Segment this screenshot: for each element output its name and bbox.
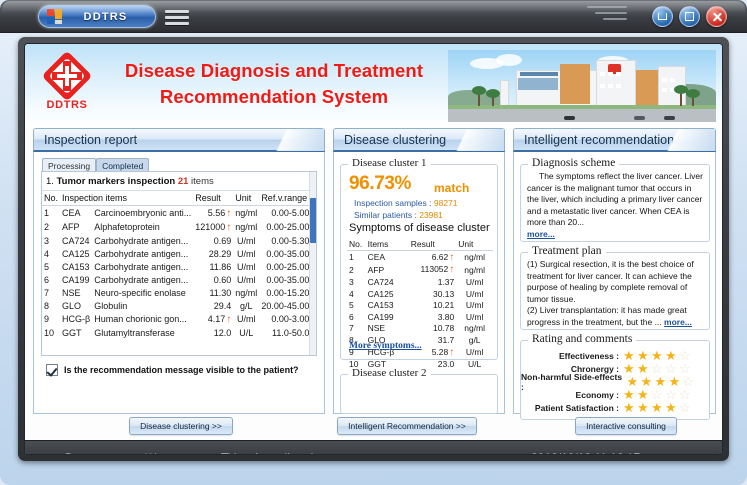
panel-recommendation-body: Diagnosis scheme The symptoms reflect th… bbox=[513, 152, 716, 414]
treatment-plan-group: Treatment plan (1) Surgical resection, i… bbox=[520, 252, 710, 330]
rating-label: Effectiveness : bbox=[559, 351, 619, 361]
table-row[interactable]: 5CA153Carbohydrate antigen...11.86U/ml0.… bbox=[42, 260, 311, 273]
cell-item: AFP bbox=[366, 264, 409, 277]
table-row[interactable]: 7NSE10.78ng/ml bbox=[347, 323, 493, 335]
status-bar: Doctor name : *** Title : Attending doct… bbox=[25, 440, 723, 455]
cell-result: 5.56↑ bbox=[193, 206, 233, 221]
col-unit: Unit bbox=[456, 238, 493, 251]
panel-recommendation-title: Intelligent recommendation bbox=[514, 133, 674, 147]
status-datetime: 2016/10/12 11:16:17 bbox=[531, 451, 640, 455]
treatment-legend: Treatment plan bbox=[528, 245, 606, 257]
title-bar: DDTRS bbox=[0, 0, 747, 33]
cell-abbr: HCG-β bbox=[60, 312, 92, 326]
cell-item: CA153 bbox=[366, 299, 409, 311]
cell-unit: U/ml bbox=[233, 273, 259, 286]
action-button-row: Disease clustering >> Intelligent Recomm… bbox=[25, 414, 723, 440]
cell-name: Neuro-specific enolase bbox=[92, 286, 193, 299]
table-row[interactable]: 2AFPAlphafetoprotein121000↑ng/ml0.00-25.… bbox=[42, 220, 311, 234]
cell-unit: ng/ml bbox=[456, 323, 493, 335]
cell-ref: 0.00-5.30 bbox=[259, 234, 311, 247]
rating-label: Economy : bbox=[576, 390, 619, 400]
col-items: Inspection items bbox=[60, 191, 193, 206]
cell-result: 121000↑ bbox=[193, 220, 233, 234]
cell-no: 1 bbox=[42, 206, 60, 221]
table-row[interactable]: 1CEACarcinoembryonic anti...5.56↑ng/ml0.… bbox=[42, 206, 311, 221]
high-value-arrow-icon: ↑ bbox=[449, 264, 454, 275]
panel-inspection-report: Inspection report Processing Completed 1… bbox=[33, 128, 325, 414]
panel-intelligent-recommendation: Intelligent recommendation Diagnosis sch… bbox=[513, 128, 716, 414]
inspection-scrollbar[interactable] bbox=[309, 172, 316, 355]
more-symptoms-link[interactable]: More symptoms... bbox=[349, 341, 422, 351]
application-window: DDTRS bbox=[0, 0, 747, 485]
cell-name: Carbohydrate antigen... bbox=[92, 234, 193, 247]
close-button[interactable] bbox=[706, 6, 727, 27]
inspection-samples-stat: Inspection samples : 98271 bbox=[354, 198, 458, 208]
cluster-1-legend: Disease cluster 1 bbox=[348, 157, 431, 169]
cell-result: 11.86 bbox=[193, 260, 233, 273]
high-value-arrow-icon: ↑ bbox=[449, 347, 454, 358]
intelligent-recommendation-button[interactable]: Intelligent Recommendation >> bbox=[337, 417, 477, 435]
rating-legend: Rating and comments bbox=[528, 333, 636, 345]
hospital-photo bbox=[448, 50, 716, 122]
cell-item: CA724 bbox=[366, 276, 409, 288]
cluster-2-legend: Disease cluster 2 bbox=[348, 367, 431, 379]
diagnosis-text: The symptoms reflect the liver cancer. L… bbox=[527, 171, 703, 229]
cell-result: 0.60 bbox=[193, 273, 233, 286]
hospital-logo: DDTRS bbox=[39, 54, 95, 111]
logo-abbr-label: DDTRS bbox=[39, 99, 95, 111]
star-filled-icon[interactable]: ★ bbox=[651, 401, 665, 414]
page-title-line1: Disease Diagnosis and Treatment bbox=[109, 58, 439, 84]
table-row[interactable]: 6CA1993.80U/ml bbox=[347, 311, 493, 323]
panel-disease-clustering: Disease clustering Disease cluster 1 96.… bbox=[333, 128, 505, 414]
table-row[interactable]: 6CA199Carbohydrate antigen...0.60U/ml0.0… bbox=[42, 273, 311, 286]
cell-unit: U/ml bbox=[456, 346, 493, 359]
treatment-line-2-text: (2) Liver transplantation: it has made g… bbox=[527, 305, 687, 327]
table-row[interactable]: 8GLOGlobulin29.4g/L20.00-45.00 bbox=[42, 299, 311, 312]
content-frame: DDTRS Disease Diagnosis and Treatment Re… bbox=[18, 37, 729, 461]
rating-row: Patient Satisfaction :★★★★☆ bbox=[521, 401, 709, 414]
cell-no: 1 bbox=[347, 251, 366, 264]
rating-comments-group: Rating and comments Effectiveness :★★★★☆… bbox=[520, 340, 710, 420]
cell-no: 4 bbox=[42, 247, 60, 260]
diagnosis-more-link[interactable]: more... bbox=[527, 229, 555, 239]
cell-abbr: CA153 bbox=[60, 260, 92, 273]
patient-visibility-label: Is the recommendation message visible to… bbox=[64, 365, 299, 375]
close-icon bbox=[712, 12, 722, 22]
maximize-button[interactable] bbox=[679, 6, 700, 27]
cell-result: 29.4 bbox=[193, 299, 233, 312]
cell-result: 10.78 bbox=[409, 323, 457, 335]
panel-recommendation-header: Intelligent recommendation bbox=[513, 128, 716, 152]
cell-name: Globulin bbox=[92, 299, 193, 312]
panel-inspection-body: Processing Completed 1. Tumor markers in… bbox=[33, 152, 325, 414]
treatment-text-block: (1) Surgical resection, it is the best c… bbox=[521, 253, 709, 328]
star-empty-icon[interactable]: ☆ bbox=[679, 401, 693, 414]
table-row[interactable]: 1CEA6.62↑ng/ml bbox=[347, 251, 493, 264]
minimize-button[interactable] bbox=[652, 6, 673, 27]
cell-item: CA125 bbox=[366, 288, 409, 300]
table-row[interactable]: 3CA724Carbohydrate antigen...0.69U/ml0.0… bbox=[42, 234, 311, 247]
cell-result: 28.29 bbox=[193, 247, 233, 260]
cell-name: Alphafetoprotein bbox=[92, 220, 193, 234]
table-row[interactable]: 2AFP113052↑ng/ml bbox=[347, 264, 493, 277]
cell-ref: 11.0-50.0 bbox=[259, 326, 311, 339]
cell-ref: 0.00-3.00 bbox=[259, 312, 311, 326]
cell-unit: U/ml bbox=[233, 234, 259, 247]
table-row[interactable]: 4CA125Carbohydrate antigen...28.29U/ml0.… bbox=[42, 247, 311, 260]
cell-name: Carbohydrate antigen... bbox=[92, 247, 193, 260]
cell-ref: 0.00-35.00 bbox=[259, 247, 311, 260]
page-title: Disease Diagnosis and Treatment Recommen… bbox=[109, 58, 439, 110]
patient-visibility-checkbox-row[interactable]: Is the recommendation message visible to… bbox=[46, 364, 299, 376]
cell-result: 4.17↑ bbox=[193, 312, 233, 326]
cell-unit: U/ml bbox=[456, 288, 493, 300]
cell-unit: g/L bbox=[233, 299, 259, 312]
cell-unit: U/L bbox=[456, 358, 493, 370]
cell-ref: 0.00-15.20 bbox=[259, 286, 311, 299]
cell-abbr: CA125 bbox=[60, 247, 92, 260]
star-filled-icon[interactable]: ★ bbox=[623, 401, 637, 414]
inspection-samples-label: Inspection samples : bbox=[354, 198, 431, 208]
high-value-arrow-icon: ↑ bbox=[226, 208, 231, 219]
app-logo-button[interactable]: DDTRS bbox=[38, 5, 156, 28]
match-percent: 96.73% bbox=[349, 173, 411, 195]
cell-abbr: AFP bbox=[60, 220, 92, 234]
table-row[interactable]: 5CA15310.21U/ml bbox=[347, 299, 493, 311]
cell-no: 5 bbox=[42, 260, 60, 273]
cell-result: 0.69 bbox=[193, 234, 233, 247]
cell-result: 113052↑ bbox=[409, 264, 457, 277]
symptoms-heading: Symptoms of disease cluster bbox=[349, 222, 490, 234]
minimize-icon bbox=[658, 13, 667, 20]
cell-name: Carbohydrate antigen... bbox=[92, 273, 193, 286]
cell-unit: U/ml bbox=[233, 312, 259, 326]
col-result: Result bbox=[193, 191, 233, 206]
cell-unit: U/ml bbox=[233, 247, 259, 260]
cell-name: Carcinoembryonic anti... bbox=[92, 206, 193, 221]
cell-item: NSE bbox=[366, 323, 409, 335]
maximize-icon bbox=[685, 12, 694, 21]
panels-row: Inspection report Processing Completed 1… bbox=[25, 128, 723, 414]
cell-ref: 20.00-45.00 bbox=[259, 299, 311, 312]
status-doctor-title: Title : Attending doctor bbox=[221, 451, 340, 455]
disease-cluster-1-group: Disease cluster 1 96.73% match Inspectio… bbox=[340, 164, 498, 360]
section-items-word: items bbox=[191, 176, 214, 187]
table-row[interactable]: 9HCG-βHuman chorionic gon...4.17↑U/ml0.0… bbox=[42, 312, 311, 326]
menu-icon[interactable] bbox=[165, 10, 189, 28]
cell-unit: U/L bbox=[233, 326, 259, 339]
col-items: Items bbox=[366, 238, 409, 251]
cell-abbr: CA724 bbox=[60, 234, 92, 247]
cell-result: 11.30 bbox=[193, 286, 233, 299]
cell-result: 3.80 bbox=[409, 311, 457, 323]
disease-cluster-2-group[interactable]: Disease cluster 2 bbox=[340, 374, 498, 414]
table-row[interactable]: 4CA12530.13U/ml bbox=[347, 288, 493, 300]
panel-clustering-title: Disease clustering bbox=[334, 133, 446, 147]
app-title: DDTRS bbox=[62, 11, 155, 23]
treatment-line-2: (2) Liver transplantation: it has made g… bbox=[527, 305, 703, 328]
cell-name: Carbohydrate antigen... bbox=[92, 260, 193, 273]
cell-unit: U/ml bbox=[456, 311, 493, 323]
medical-cross-icon bbox=[45, 54, 89, 98]
cell-no: 8 bbox=[42, 299, 60, 312]
decorative-lines-icon bbox=[587, 6, 627, 24]
table-row[interactable]: 10GGTGlutamyltransferase12.0U/L11.0-50.0 bbox=[42, 326, 311, 339]
cell-abbr: GLO bbox=[60, 299, 92, 312]
cell-unit: U/ml bbox=[456, 299, 493, 311]
cell-no: 7 bbox=[42, 286, 60, 299]
col-result: Result bbox=[409, 238, 457, 251]
cell-abbr: CA199 bbox=[60, 273, 92, 286]
col-ref: Ref.v.range bbox=[259, 191, 311, 206]
diagnosis-legend: Diagnosis scheme bbox=[528, 157, 619, 169]
cell-no: 3 bbox=[42, 234, 60, 247]
page-title-line2: Recommendation System bbox=[109, 84, 439, 110]
col-no: No. bbox=[42, 191, 60, 206]
cell-unit: ng/ml bbox=[233, 286, 259, 299]
status-doctor-name: Doctor name : *** bbox=[65, 451, 158, 455]
cell-no: 4 bbox=[347, 288, 366, 300]
cell-result: 12.0 bbox=[193, 326, 233, 339]
cell-abbr: GGT bbox=[60, 326, 92, 339]
col-no: No. bbox=[347, 238, 366, 251]
cell-unit: U/ml bbox=[233, 260, 259, 273]
cell-no: 3 bbox=[347, 276, 366, 288]
rating-label: Patient Satisfaction : bbox=[535, 403, 619, 413]
col-unit: Unit bbox=[233, 191, 259, 206]
similar-patients-stat: Similar patients : 23981 bbox=[354, 210, 443, 220]
section-item-count: 21 bbox=[178, 176, 189, 187]
treatment-line-1: (1) Surgical resection, it is the best c… bbox=[527, 259, 703, 305]
panel-inspection-title: Inspection report bbox=[34, 133, 137, 147]
cell-ref: 0.00-5.00 bbox=[259, 206, 311, 221]
cell-no: 5 bbox=[347, 299, 366, 311]
cell-result: 6.62↑ bbox=[409, 251, 457, 264]
cell-unit: U/ml bbox=[456, 276, 493, 288]
cell-ref: 0.00-25.00 bbox=[259, 260, 311, 273]
content-inner: DDTRS Disease Diagnosis and Treatment Re… bbox=[24, 43, 723, 455]
panel-inspection-header: Inspection report bbox=[33, 128, 325, 152]
panel-clustering-header: Disease clustering bbox=[333, 128, 505, 152]
table-header-row: No. Inspection items Result Unit Ref.v.r… bbox=[42, 191, 311, 206]
match-word: match bbox=[434, 181, 469, 195]
cell-ref: 0.00-25.00 bbox=[259, 220, 311, 234]
high-value-arrow-icon: ↑ bbox=[226, 314, 231, 325]
table-row[interactable]: 7NSENeuro-specific enolase11.30ng/ml0.00… bbox=[42, 286, 311, 299]
cell-unit: ng/ml bbox=[456, 251, 493, 264]
cell-abbr: CEA bbox=[60, 206, 92, 221]
patient-visibility-checkbox[interactable] bbox=[46, 364, 58, 376]
section-title: Tumor markers inspection bbox=[57, 176, 176, 187]
table-row[interactable]: 3CA7241.37U/ml bbox=[347, 276, 493, 288]
panel-corner-fold-icon bbox=[254, 129, 324, 151]
cell-unit: ng/ml bbox=[456, 264, 493, 277]
cell-unit: ng/ml bbox=[233, 220, 259, 234]
cell-result: 1.37 bbox=[409, 276, 457, 288]
inspection-samples-value: 98271 bbox=[434, 198, 458, 208]
interactive-consulting-button[interactable]: Interactive consulting bbox=[575, 417, 677, 435]
rating-stars[interactable]: ★★★★☆ bbox=[623, 401, 701, 414]
cell-no: 2 bbox=[42, 220, 60, 234]
cell-no: 9 bbox=[42, 312, 60, 326]
rating-rows: Effectiveness :★★★★☆Chronergy :★★☆☆☆Non-… bbox=[521, 341, 709, 414]
inspection-table: No. Inspection items Result Unit Ref.v.r… bbox=[42, 191, 311, 339]
cell-unit: ng/ml bbox=[233, 206, 259, 221]
section-index: 1. bbox=[46, 176, 54, 187]
cell-no: 6 bbox=[42, 273, 60, 286]
diagnosis-scheme-group: Diagnosis scheme The symptoms reflect th… bbox=[520, 164, 710, 242]
cell-ref: 0.00-35.00 bbox=[259, 273, 311, 286]
high-value-arrow-icon: ↑ bbox=[226, 222, 231, 233]
disease-clustering-button[interactable]: Disease clustering >> bbox=[129, 417, 233, 435]
rating-label: Non-harmful Side-effects : bbox=[521, 372, 623, 392]
cell-no: 7 bbox=[347, 323, 366, 335]
treatment-more-link[interactable]: more... bbox=[664, 317, 692, 327]
cell-name: Glutamyltransferase bbox=[92, 326, 193, 339]
star-filled-icon[interactable]: ★ bbox=[637, 401, 651, 414]
cell-no: 10 bbox=[42, 326, 60, 339]
cell-result: 30.13 bbox=[409, 288, 457, 300]
cell-no: 6 bbox=[347, 311, 366, 323]
high-value-arrow-icon: ↑ bbox=[449, 252, 454, 263]
table-header-row: No. Items Result Unit bbox=[347, 238, 493, 251]
cell-no: 2 bbox=[347, 264, 366, 277]
windows-logo-icon bbox=[47, 9, 62, 24]
diagnosis-text-block: The symptoms reflect the liver cancer. L… bbox=[521, 165, 709, 240]
app-banner: DDTRS Disease Diagnosis and Treatment Re… bbox=[25, 44, 723, 128]
inspection-table-container: 1. Tumor markers inspection 21 items No.… bbox=[41, 171, 317, 356]
similar-patients-value: 23981 bbox=[419, 210, 443, 220]
cell-result: 10.21 bbox=[409, 299, 457, 311]
cell-abbr: NSE bbox=[60, 286, 92, 299]
inspection-section-title: 1. Tumor markers inspection 21 items bbox=[42, 172, 316, 191]
cell-item: CA199 bbox=[366, 311, 409, 323]
similar-patients-label: Similar patients : bbox=[354, 210, 417, 220]
cell-name: Human chorionic gon... bbox=[92, 312, 193, 326]
star-filled-icon[interactable]: ★ bbox=[665, 401, 679, 414]
cell-item: CEA bbox=[366, 251, 409, 264]
panel-clustering-body: Disease cluster 1 96.73% match Inspectio… bbox=[333, 152, 505, 414]
inspection-scroll-thumb[interactable] bbox=[310, 198, 317, 243]
cell-unit: g/L bbox=[456, 334, 493, 346]
